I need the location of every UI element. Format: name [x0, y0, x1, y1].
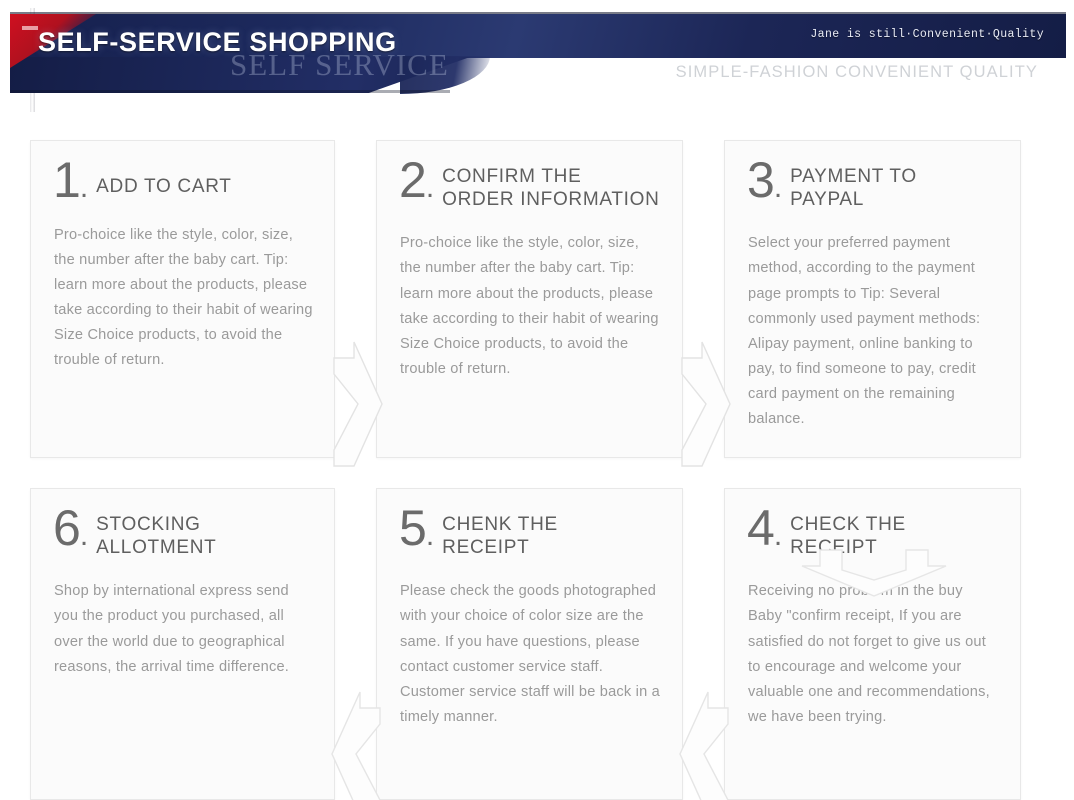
step-description: Pro-choice like the style, color, size, …: [31, 203, 334, 374]
step-card-5: 5. CHENK THE RECEIPT Please check the go…: [376, 488, 683, 800]
step-title: ADD TO CART: [96, 157, 231, 198]
step-number: 1.: [53, 157, 87, 203]
step-number: 4.: [747, 505, 781, 551]
page-root: SELF SERVICE SELF-SERVICE SHOPPING Jane …: [0, 0, 1074, 800]
step-number: 2.: [399, 157, 433, 203]
banner-sub-tagline: SIMPLE-FASHION CONVENIENT QUALITY: [676, 63, 1038, 82]
step-title: CHENK THE RECEIPT: [442, 505, 558, 559]
banner-bottom-rule: [10, 90, 450, 93]
step-description: Select your preferred payment method, ac…: [725, 211, 1020, 432]
step-card-2: 2. CONFIRM THE ORDER INFORMATION Pro-cho…: [376, 140, 683, 458]
step-number: 5.: [399, 505, 433, 551]
step-title: PAYMENT TO PAYPAL: [790, 157, 917, 211]
step-card-3: 3. PAYMENT TO PAYPAL Select your preferr…: [724, 140, 1021, 458]
step-card-header: 6. STOCKING ALLOTMENT: [31, 489, 334, 559]
step-description: Receiving no problem in the buy Baby "co…: [725, 559, 1020, 730]
step-card-header: 2. CONFIRM THE ORDER INFORMATION: [377, 141, 682, 211]
header-banner: SELF SERVICE SELF-SERVICE SHOPPING Jane …: [0, 0, 1074, 112]
step-card-header: 1. ADD TO CART: [31, 141, 334, 203]
page-title: SELF-SERVICE SHOPPING: [38, 27, 397, 58]
step-card-4: 4. CHECK THE RECEIPT Receiving no proble…: [724, 488, 1021, 800]
step-card-header: 3. PAYMENT TO PAYPAL: [725, 141, 1020, 211]
step-card-header: 4. CHECK THE RECEIPT: [725, 489, 1020, 559]
step-number: 3.: [747, 157, 781, 203]
step-description: Please check the goods photographed with…: [377, 559, 682, 730]
steps-grid: 1. ADD TO CART Pro-choice like the style…: [0, 112, 1074, 800]
step-title: STOCKING ALLOTMENT: [96, 505, 216, 559]
red-corner-dash-icon: [22, 26, 38, 30]
step-number: 6.: [53, 505, 87, 551]
step-description: Pro-choice like the style, color, size, …: [377, 211, 682, 382]
step-title: CHECK THE RECEIPT: [790, 505, 906, 559]
step-card-1: 1. ADD TO CART Pro-choice like the style…: [30, 140, 335, 458]
banner-tagline: Jane is still·Convenient·Quality: [810, 28, 1044, 41]
step-title: CONFIRM THE ORDER INFORMATION: [442, 157, 659, 211]
step-card-header: 5. CHENK THE RECEIPT: [377, 489, 682, 559]
step-description: Shop by international express send you t…: [31, 559, 334, 679]
step-card-6: 6. STOCKING ALLOTMENT Shop by internatio…: [30, 488, 335, 800]
